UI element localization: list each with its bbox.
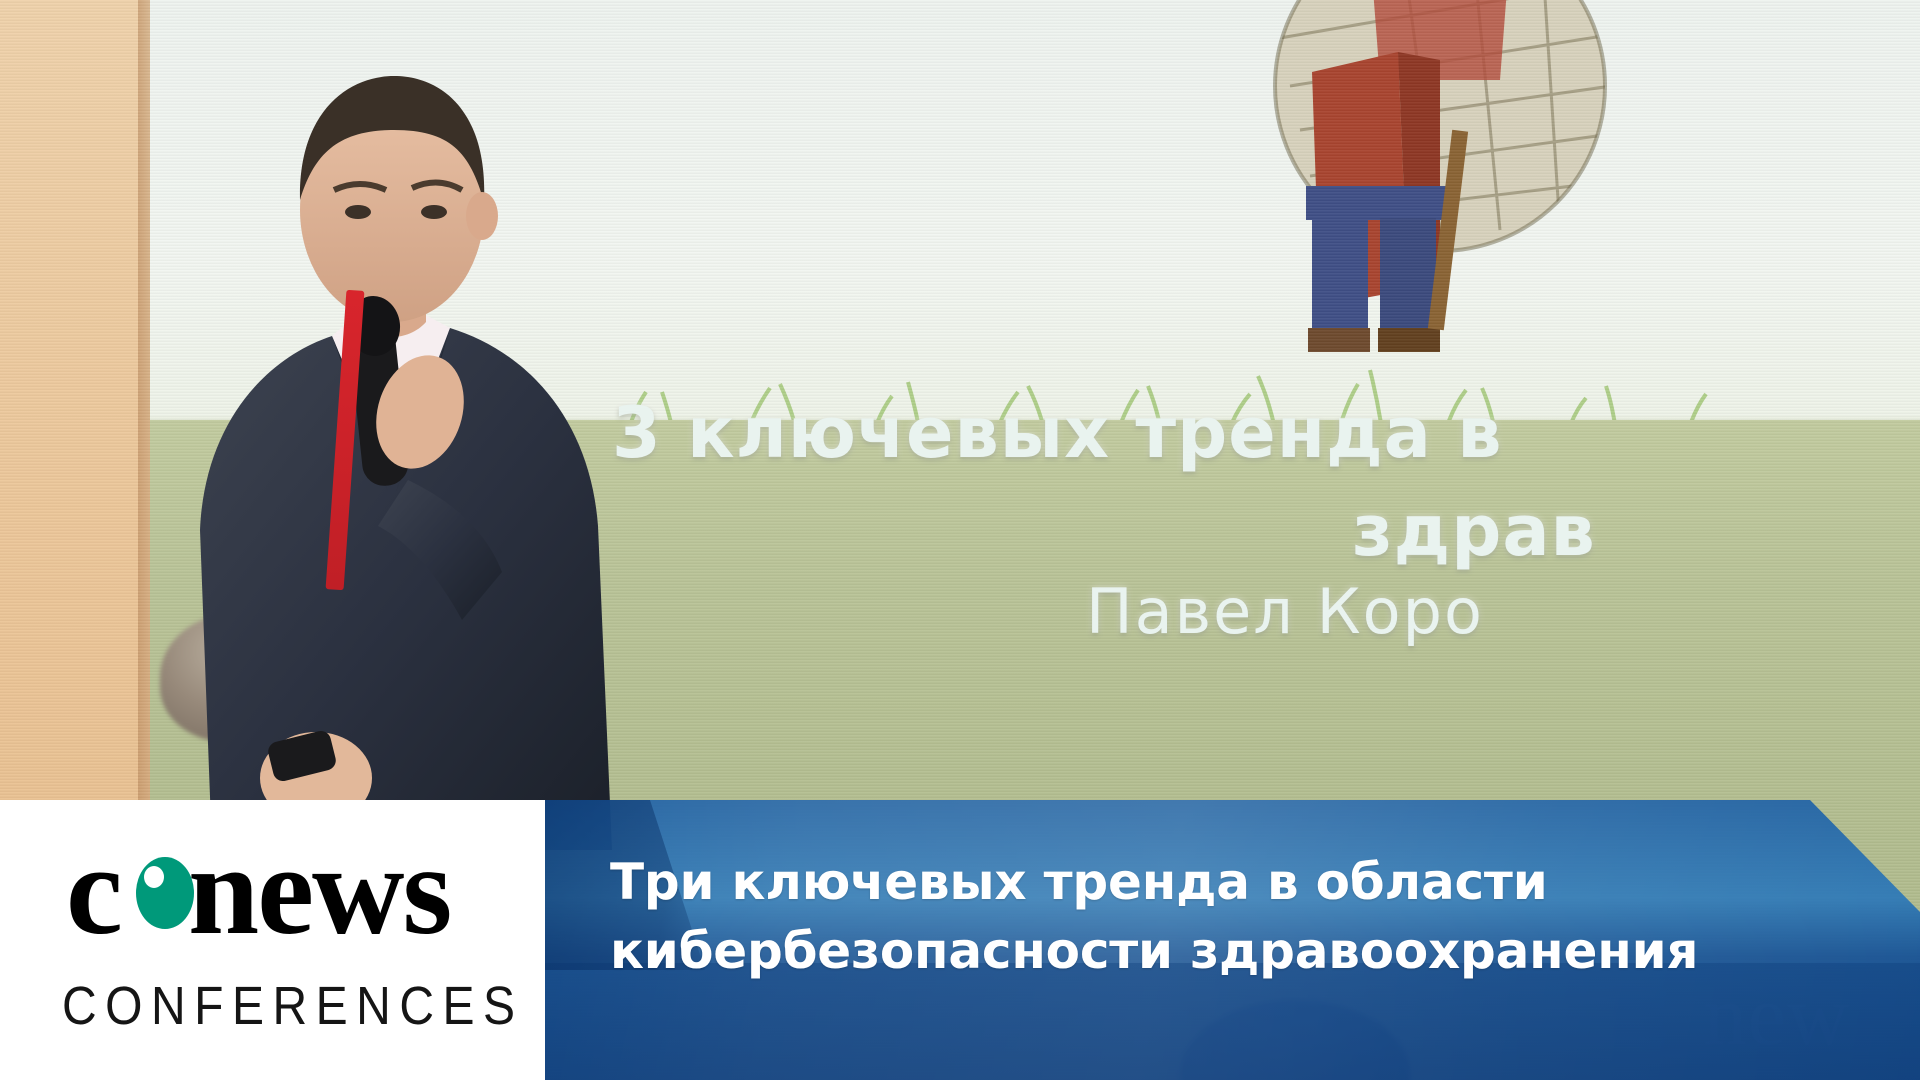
speaker-figure [120,60,680,850]
logo-letter-c: c [66,819,121,961]
screenshot-stage: 3 ключевых тренда в здрав Павел Коро c n… [0,0,1920,1080]
logo-word-news: news [188,838,450,942]
slide-title-line-1: 3 ключевых тренда в [612,392,1503,474]
slide-title-line-2: здрав [1352,490,1596,572]
banner-title-line-1: Три ключевых тренда в области [610,848,1840,917]
banner-title-line-2: кибербезопасности здравоохранения [610,917,1840,986]
logo-panel: c news CONFERENCES [0,800,545,1080]
cnews-eye-icon [136,857,194,929]
slide-speaker-name: Павел Коро [1086,575,1484,648]
cnews-conferences-logo[interactable]: c news CONFERENCES [62,838,487,1031]
banner-title: Три ключевых тренда в области кибербезоп… [610,848,1840,985]
cnews-wordmark: c news [62,838,487,942]
logo-subtitle: CONFERENCES [62,976,487,1038]
slide-soldier-illustration [1140,0,1610,430]
lower-third-banner: c news CONFERENCES Три ключевых тренда в… [0,800,1920,1080]
